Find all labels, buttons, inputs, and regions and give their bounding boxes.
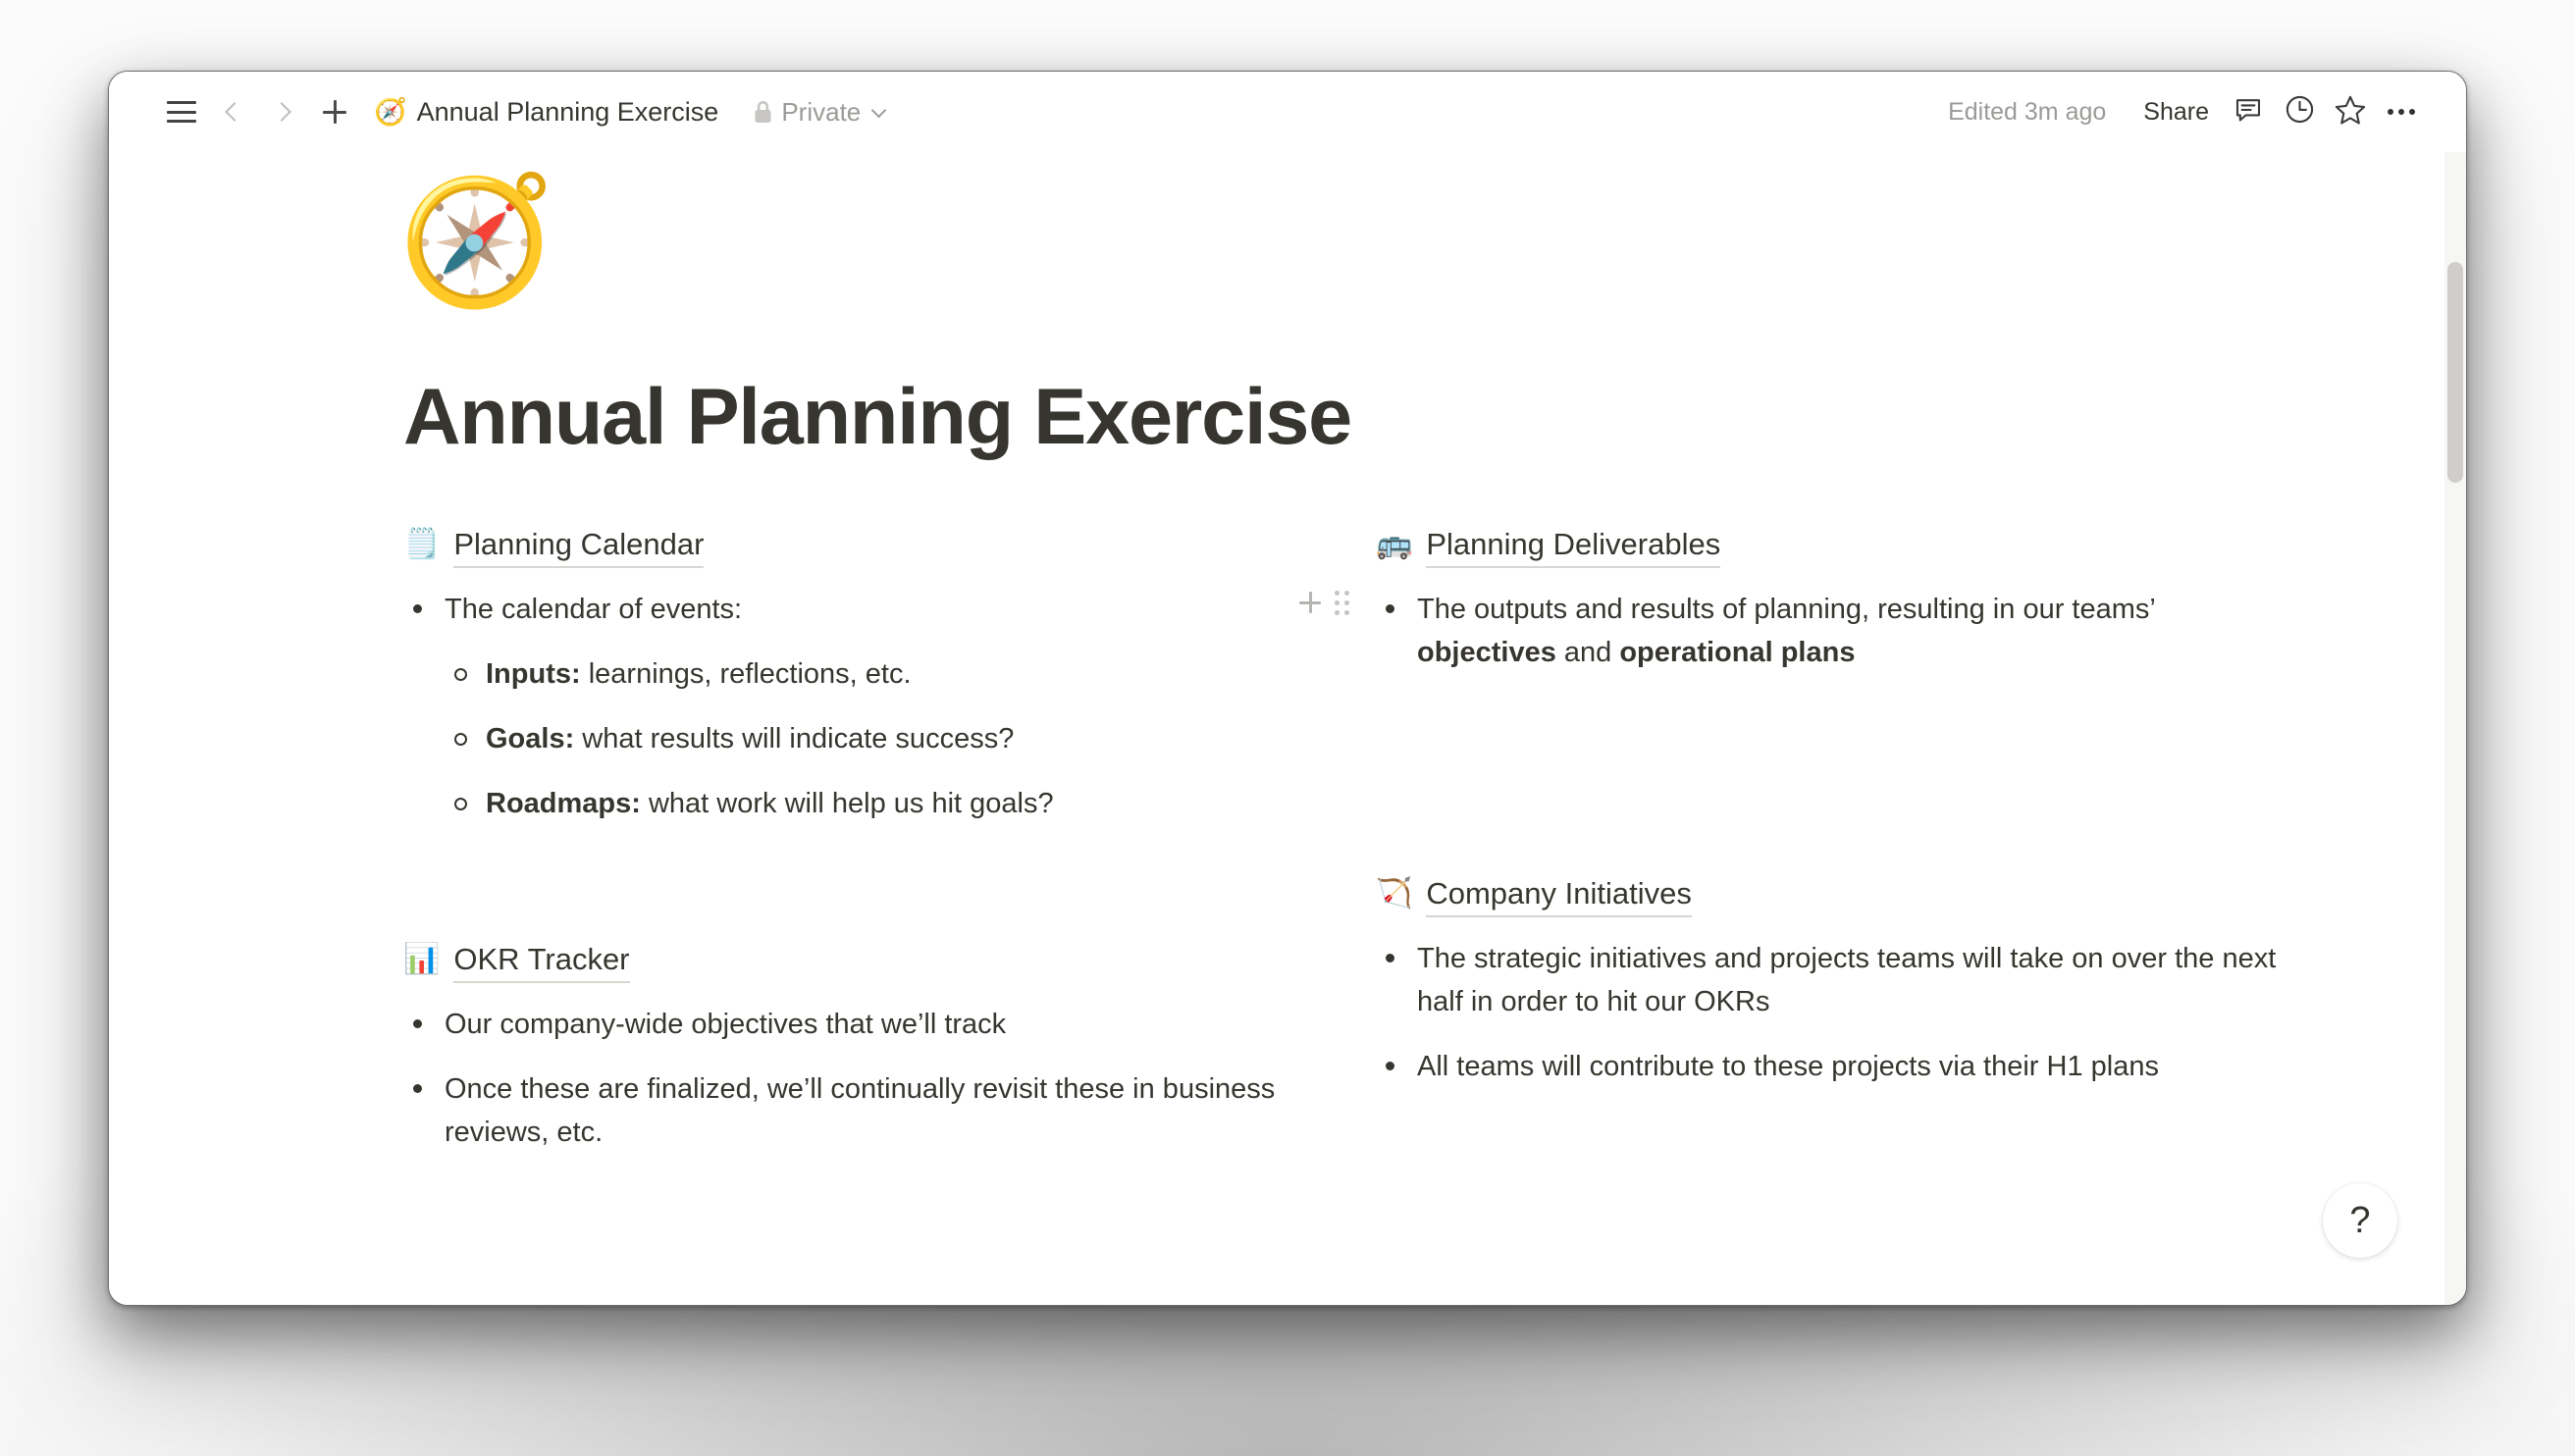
block-hover-controls bbox=[1299, 591, 1349, 615]
sub-bullet-label: Inputs: bbox=[486, 658, 581, 690]
bullet-text: Our company-wide objectives that we’ll t… bbox=[445, 1009, 1006, 1040]
bullet-text-bold: objectives bbox=[1417, 637, 1556, 668]
section-link-okr-tracker[interactable]: OKR Tracker bbox=[453, 941, 629, 983]
bullet-list: The calendar of events: Inputs: learning… bbox=[403, 588, 1317, 825]
privacy-label: Private bbox=[781, 97, 861, 128]
list-item[interactable]: Inputs: learnings, reflections, etc. bbox=[445, 652, 1317, 696]
bullet-text-part: and bbox=[1556, 637, 1620, 668]
more-horizontal-icon bbox=[2388, 109, 2415, 115]
column-layout: 🗒️ Planning Calendar The calendar of eve… bbox=[109, 526, 2466, 1154]
section-link-planning-deliverables[interactable]: Planning Deliverables bbox=[1426, 526, 1720, 568]
bullet-text-part: The outputs and results of planning, res… bbox=[1417, 594, 2155, 625]
section-okr-tracker: 📊 OKR Tracker Our company-wide objective… bbox=[403, 941, 1317, 1154]
sub-bullet-text: what work will help us hit goals? bbox=[641, 788, 1054, 819]
scrollbar-track[interactable] bbox=[2444, 152, 2466, 1305]
sub-bullet-label: Goals: bbox=[486, 723, 574, 754]
bullet-list: Our company-wide objectives that we’ll t… bbox=[403, 1003, 1317, 1154]
sub-bullet-list: Inputs: learnings, reflections, etc. Goa… bbox=[445, 652, 1317, 825]
section-header: 🚌 Planning Deliverables bbox=[1376, 526, 2289, 568]
more-options-button[interactable] bbox=[2376, 86, 2427, 137]
sub-bullet-label: Roadmaps: bbox=[486, 788, 641, 819]
sub-bullet-text: what results will indicate success? bbox=[574, 723, 1014, 754]
comments-button[interactable] bbox=[2223, 86, 2274, 137]
page-content: 🧭 Annual Planning Exercise 🗒️ Planning C… bbox=[109, 168, 2466, 1154]
share-button[interactable]: Share bbox=[2129, 90, 2223, 134]
bar-chart-icon: 📊 bbox=[403, 941, 440, 978]
topbar-left-group: 🧭 Annual Planning Exercise Private bbox=[156, 86, 1934, 137]
favorite-button[interactable] bbox=[2325, 86, 2376, 137]
section-header: 🗒️ Planning Calendar bbox=[403, 526, 1317, 568]
bus-icon: 🚌 bbox=[1376, 526, 1412, 563]
section-link-company-initiatives[interactable]: Company Initiatives bbox=[1426, 875, 1692, 917]
column-left: 🗒️ Planning Calendar The calendar of eve… bbox=[403, 526, 1376, 1154]
topbar: 🧭 Annual Planning Exercise Private Edite… bbox=[109, 72, 2466, 152]
bullet-list: The outputs and results of planning, res… bbox=[1376, 588, 2289, 674]
section-link-planning-calendar[interactable]: Planning Calendar bbox=[453, 526, 704, 568]
navigate-back-button[interactable] bbox=[207, 86, 258, 137]
bullet-text: The calendar of events: bbox=[445, 594, 742, 625]
list-item[interactable]: Our company-wide objectives that we’ll t… bbox=[403, 1003, 1317, 1046]
sidebar-toggle-button[interactable] bbox=[156, 86, 207, 137]
comment-icon bbox=[2233, 95, 2263, 130]
notepad-icon: 🗒️ bbox=[403, 526, 440, 563]
section-company-initiatives: 🏹 Company Initiatives The strategic init… bbox=[1376, 875, 2289, 1088]
scrollbar-thumb[interactable] bbox=[2447, 262, 2463, 483]
page-history-button[interactable] bbox=[2274, 86, 2325, 137]
clock-icon bbox=[2285, 94, 2315, 130]
list-item[interactable]: The calendar of events: Inputs: learning… bbox=[403, 588, 1317, 825]
section-planning-calendar: 🗒️ Planning Calendar The calendar of eve… bbox=[403, 526, 1317, 825]
list-item[interactable]: Goals: what results will indicate succes… bbox=[445, 717, 1317, 760]
list-item[interactable]: Roadmaps: what work will help us hit goa… bbox=[445, 782, 1317, 825]
section-planning-deliverables: 🚌 Planning Deliverables bbox=[1376, 526, 2289, 674]
page-scroll-area: 🧭 Annual Planning Exercise 🗒️ Planning C… bbox=[109, 152, 2466, 1305]
compass-icon: 🧭 bbox=[374, 99, 407, 126]
star-icon bbox=[2335, 94, 2366, 130]
chevron-left-icon bbox=[225, 102, 244, 122]
plus-icon bbox=[323, 100, 346, 124]
chevron-down-icon bbox=[871, 102, 887, 118]
add-block-icon[interactable] bbox=[1299, 592, 1321, 613]
list-item[interactable]: The outputs and results of planning, res… bbox=[1376, 588, 2289, 674]
hamburger-icon bbox=[167, 101, 196, 123]
bullet-text: All teams will contribute to these proje… bbox=[1417, 1051, 2159, 1082]
column-right: 🚌 Planning Deliverables bbox=[1376, 526, 2348, 1154]
bullet-text: Once these are finalized, we’ll continua… bbox=[445, 1073, 1275, 1148]
lock-icon bbox=[754, 100, 772, 124]
bullet-list: The strategic initiatives and projects t… bbox=[1376, 937, 2289, 1088]
page-title[interactable]: Annual Planning Exercise bbox=[403, 376, 2466, 459]
page-emoji-icon[interactable]: 🧭 bbox=[398, 168, 546, 315]
bow-and-arrow-icon: 🏹 bbox=[1376, 875, 1412, 912]
drag-handle-icon[interactable] bbox=[1335, 591, 1349, 615]
privacy-selector[interactable]: Private bbox=[744, 90, 894, 134]
navigate-forward-button[interactable] bbox=[258, 86, 309, 137]
last-edited-label[interactable]: Edited 3m ago bbox=[1934, 90, 2120, 134]
section-header: 🏹 Company Initiatives bbox=[1376, 875, 2289, 917]
bullet-text: The strategic initiatives and projects t… bbox=[1417, 943, 2276, 1017]
list-item[interactable]: The strategic initiatives and projects t… bbox=[1376, 937, 2289, 1023]
list-item[interactable]: Once these are finalized, we’ll continua… bbox=[403, 1067, 1317, 1154]
chevron-right-icon bbox=[272, 102, 291, 122]
topbar-right-group: Edited 3m ago Share bbox=[1934, 86, 2427, 137]
breadcrumb-title: Annual Planning Exercise bbox=[417, 97, 719, 128]
app-window: 🧭 Annual Planning Exercise Private Edite… bbox=[108, 71, 2467, 1306]
help-button[interactable]: ? bbox=[2323, 1183, 2397, 1258]
new-page-button[interactable] bbox=[309, 86, 360, 137]
section-header: 📊 OKR Tracker bbox=[403, 941, 1317, 983]
list-item[interactable]: All teams will contribute to these proje… bbox=[1376, 1045, 2289, 1088]
sub-bullet-text: learnings, reflections, etc. bbox=[581, 658, 912, 690]
bullet-text-bold: operational plans bbox=[1619, 637, 1855, 668]
breadcrumb[interactable]: 🧭 Annual Planning Exercise bbox=[364, 90, 728, 134]
